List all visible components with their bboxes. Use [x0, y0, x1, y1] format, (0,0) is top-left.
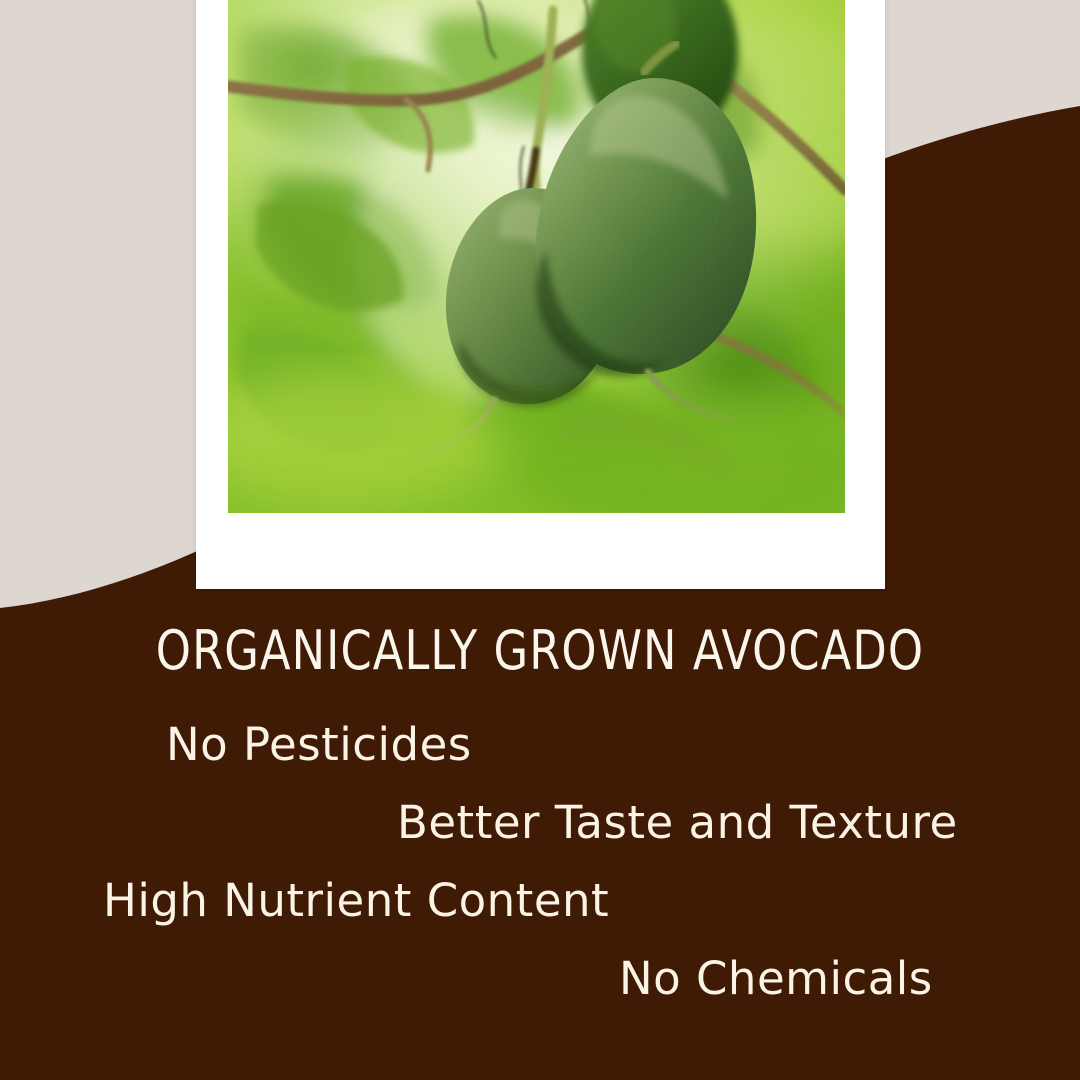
feature-item-no-chemicals: No Chemicals	[0, 940, 1080, 1018]
feature-list: No Pesticides Better Taste and Texture H…	[0, 706, 1080, 1018]
avocado-photo-illustration	[228, 0, 845, 513]
poster-canvas: ORGANICALLY GROWN AVOCADO No Pesticides …	[0, 0, 1080, 1080]
feature-item-better-taste: Better Taste and Texture	[0, 784, 1080, 862]
photo-frame	[196, 0, 885, 589]
feature-item-no-pesticides: No Pesticides	[0, 706, 1080, 784]
page-title: ORGANICALLY GROWN AVOCADO	[43, 619, 1037, 682]
avocado-photo	[228, 0, 845, 513]
feature-item-high-nutrient: High Nutrient Content	[0, 862, 1080, 940]
